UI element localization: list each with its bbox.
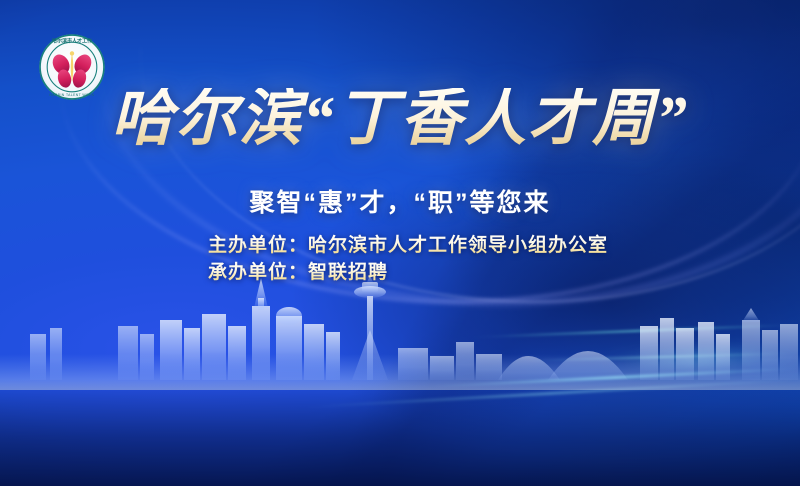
vignette-overlay xyxy=(0,0,800,486)
poster-canvas: 哈尔滨市人才工作 HARBIN TALENT WORK 哈尔滨“丁香人才周” 聚… xyxy=(0,0,800,486)
